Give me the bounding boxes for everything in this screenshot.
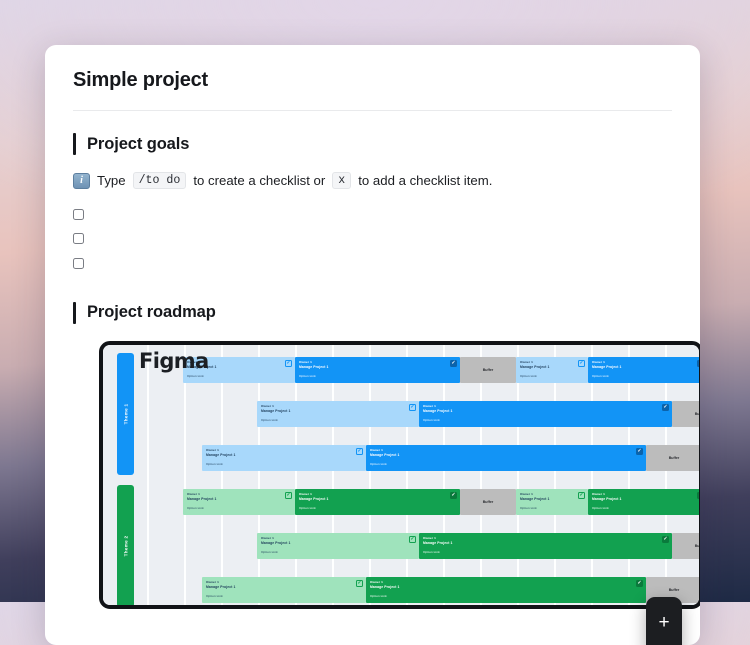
gantt-bar-owner: Owner 1 — [520, 360, 533, 364]
gantt-bar-title: Manage Project 1 — [261, 541, 291, 545]
document-card: Simple project Project goals i Type /to … — [45, 45, 700, 645]
gantt-bar[interactable]: Buffer — [460, 489, 516, 515]
gantt-bar-label: Buffer — [669, 588, 680, 592]
gantt-bar-link: Option Link — [299, 506, 316, 510]
gantt-bar-owner: Owner 1 — [261, 536, 274, 540]
gantt-bar-title: Manage Project 1 — [206, 585, 236, 589]
checkbox[interactable] — [73, 209, 84, 220]
theme-rail: Theme 2 — [117, 485, 134, 607]
gantt-bar-link: Option Link — [206, 462, 223, 466]
gantt-bar-title: Manage Project 1 — [423, 541, 453, 545]
gantt-bar[interactable]: Owner 1Manage Project 1Option Link✓ — [366, 577, 646, 603]
figma-wordmark: Figma — [139, 349, 209, 373]
gantt-bar-title: Manage Project 1 — [299, 365, 329, 369]
checkbox-icon[interactable]: ✓ — [662, 404, 669, 411]
gantt-bar-owner: Owner 1 — [261, 404, 274, 408]
gantt-bar[interactable]: Owner 1Manage Project 1Option Link✓ — [295, 357, 460, 383]
gantt-bar-title: Manage Project 1 — [261, 409, 291, 413]
gantt-bar[interactable]: Owner 1Manage Project 1Option Link✓ — [516, 489, 588, 515]
gantt-bar-title: Manage Project 1 — [520, 497, 550, 501]
gantt-bar-link: Option Link — [206, 594, 223, 598]
gantt-bar-link: Option Link — [423, 418, 440, 422]
gantt-bar[interactable]: Owner 1Manage Project 1Option Link✓ — [419, 533, 672, 559]
checkbox-icon[interactable]: ✓ — [356, 448, 363, 455]
plus-icon: + — [658, 613, 669, 632]
section-header-goals: Project goals — [73, 133, 672, 155]
gantt-bar-title: Manage Project 1 — [370, 585, 400, 589]
gantt-bar-title: Manage Project 1 — [187, 497, 217, 501]
gantt-bar-label: Buffer — [483, 500, 494, 504]
checkbox-icon[interactable]: ✓ — [450, 360, 457, 367]
gantt-bar[interactable]: Buffer — [460, 357, 516, 383]
gantt-bar-title: Manage Project 1 — [299, 497, 329, 501]
gantt-bar-title: Manage Project 1 — [592, 365, 622, 369]
gantt-bar-link: Option Link — [261, 550, 278, 554]
gantt-bar-label: Buffer — [695, 544, 700, 548]
checkbox-icon[interactable]: ✓ — [697, 492, 700, 499]
gantt-bar-link: Option Link — [299, 374, 316, 378]
code-to-do: /to do — [133, 172, 187, 189]
info-icon: i — [73, 173, 90, 189]
gantt-bar-owner: Owner 1 — [206, 448, 219, 452]
checkbox-icon[interactable]: ✓ — [450, 492, 457, 499]
checkbox-icon[interactable]: ✓ — [409, 404, 416, 411]
gantt-bar-title: Manage Project 1 — [370, 453, 400, 457]
gantt-bar-label: Buffer — [695, 412, 700, 416]
gantt-bar[interactable]: Owner 1Manage Project 1Option Link✓ — [295, 489, 460, 515]
gantt-gridlines — [147, 345, 699, 605]
gantt-bar-owner: Owner 1 — [423, 536, 436, 540]
gantt-bar[interactable]: Owner 1Manage Project 1Option Link✓ — [202, 577, 366, 603]
gantt-bar-link: Option Link — [592, 374, 609, 378]
gantt-bar-owner: Owner 1 — [206, 580, 219, 584]
gantt-bar-label: Buffer — [483, 368, 494, 372]
checkbox-icon[interactable]: ✓ — [662, 536, 669, 543]
info-middle: to create a checklist or — [193, 173, 325, 188]
gantt-bar-owner: Owner 1 — [370, 580, 383, 584]
gantt-bar-title: Manage Project 1 — [423, 409, 453, 413]
gantt-bar-link: Option Link — [261, 418, 278, 422]
gantt-bar-link: Option Link — [520, 374, 537, 378]
section-header-roadmap: Project roadmap — [73, 302, 672, 324]
gantt-bar-link: Option Link — [370, 594, 387, 598]
gantt-bar-link: Option Link — [187, 506, 204, 510]
gantt-bar[interactable]: Owner 1Manage Project 1Option Link✓ — [202, 445, 366, 471]
gantt-bar-title: Manage Project 1 — [206, 453, 236, 457]
gantt-chart[interactable]: Theme 1Theme 2Theme 3 Owner 1Manage Proj… — [103, 345, 699, 605]
code-x: x — [332, 172, 351, 189]
gantt-bar[interactable]: Buffer — [646, 445, 700, 471]
checkbox[interactable] — [73, 233, 84, 244]
theme-rail: Theme 1 — [117, 353, 134, 475]
info-suffix: to add a checklist item. — [358, 173, 492, 188]
gantt-bar-owner: Owner 1 — [423, 404, 436, 408]
info-prefix: Type — [97, 173, 126, 188]
gantt-bar[interactable]: Owner 1Manage Project 1Option Link✓ — [516, 357, 588, 383]
gantt-bar[interactable]: Owner 1Manage Project 1Option Link✓ — [183, 489, 295, 515]
checkbox-icon[interactable]: ✓ — [285, 360, 292, 367]
gantt-bar-link: Option Link — [370, 462, 387, 466]
roadmap-embed-wrapper: Theme 1Theme 2Theme 3 Owner 1Manage Proj… — [73, 341, 672, 609]
gantt-bar-title: Manage Project 1 — [592, 497, 622, 501]
checkbox-icon[interactable]: ✓ — [356, 580, 363, 587]
theme-rail-label: Theme 2 — [123, 535, 128, 556]
gantt-bar[interactable]: Owner 1Manage Project 1Option Link✓ — [588, 357, 700, 383]
gantt-bar[interactable]: Owner 1Manage Project 1Option Link✓ — [257, 401, 419, 427]
checklist-item[interactable] — [73, 227, 672, 252]
checkbox-icon[interactable]: ✓ — [409, 536, 416, 543]
section-title-roadmap: Project roadmap — [87, 303, 216, 322]
checklist-item[interactable] — [73, 251, 672, 276]
gantt-bar-owner: Owner 1 — [592, 360, 605, 364]
page-title: Simple project — [73, 69, 672, 110]
checkbox-icon[interactable]: ✓ — [285, 492, 292, 499]
gantt-bar-owner: Owner 1 — [520, 492, 533, 496]
gantt-bar-label: Buffer — [669, 456, 680, 460]
checkbox-icon[interactable]: ✓ — [697, 360, 700, 367]
gantt-bar-owner: Owner 1 — [592, 492, 605, 496]
title-divider — [73, 110, 672, 111]
gantt-bar[interactable]: Owner 1Manage Project 1Option Link✓ — [588, 489, 700, 515]
info-hint-line: i Type /to do to create a checklist or x… — [73, 172, 672, 189]
gantt-bar-link: Option Link — [592, 506, 609, 510]
gantt-bar-owner: Owner 1 — [370, 448, 383, 452]
gantt-bar[interactable]: Owner 1Manage Project 1Option Link✓ — [419, 401, 672, 427]
figma-embed[interactable]: Theme 1Theme 2Theme 3 Owner 1Manage Proj… — [99, 341, 700, 609]
checklist-item[interactable] — [73, 202, 672, 227]
checkbox-icon[interactable]: ✓ — [578, 360, 585, 367]
gantt-bar[interactable]: Owner 1Manage Project 1Option Link✓ — [257, 533, 419, 559]
section-accent-bar — [73, 133, 76, 155]
checkbox[interactable] — [73, 258, 84, 269]
gantt-bar-link: Option Link — [423, 550, 440, 554]
checkbox-icon[interactable]: ✓ — [636, 580, 643, 587]
gantt-bar[interactable]: Buffer — [672, 401, 700, 427]
theme-rail-label: Theme 1 — [123, 403, 128, 424]
gantt-bar-owner: Owner 1 — [299, 492, 312, 496]
gantt-bar-owner: Owner 1 — [299, 360, 312, 364]
gantt-bar[interactable]: Buffer — [672, 533, 700, 559]
section-title-goals: Project goals — [87, 135, 189, 154]
gantt-bar-owner: Owner 1 — [187, 492, 200, 496]
gantt-bar[interactable]: Owner 1Manage Project 1Option Link✓ — [366, 445, 646, 471]
goals-checklist — [73, 202, 672, 276]
gantt-bar-title: Manage Project 1 — [520, 365, 550, 369]
add-block-button[interactable]: + — [646, 597, 682, 645]
checkbox-icon[interactable]: ✓ — [578, 492, 585, 499]
gantt-bar-link: Option Link — [187, 374, 204, 378]
goals-block: i Type /to do to create a checklist or x… — [73, 172, 672, 276]
gantt-bar-link: Option Link — [520, 506, 537, 510]
checkbox-icon[interactable]: ✓ — [636, 448, 643, 455]
section-accent-bar — [73, 302, 76, 324]
